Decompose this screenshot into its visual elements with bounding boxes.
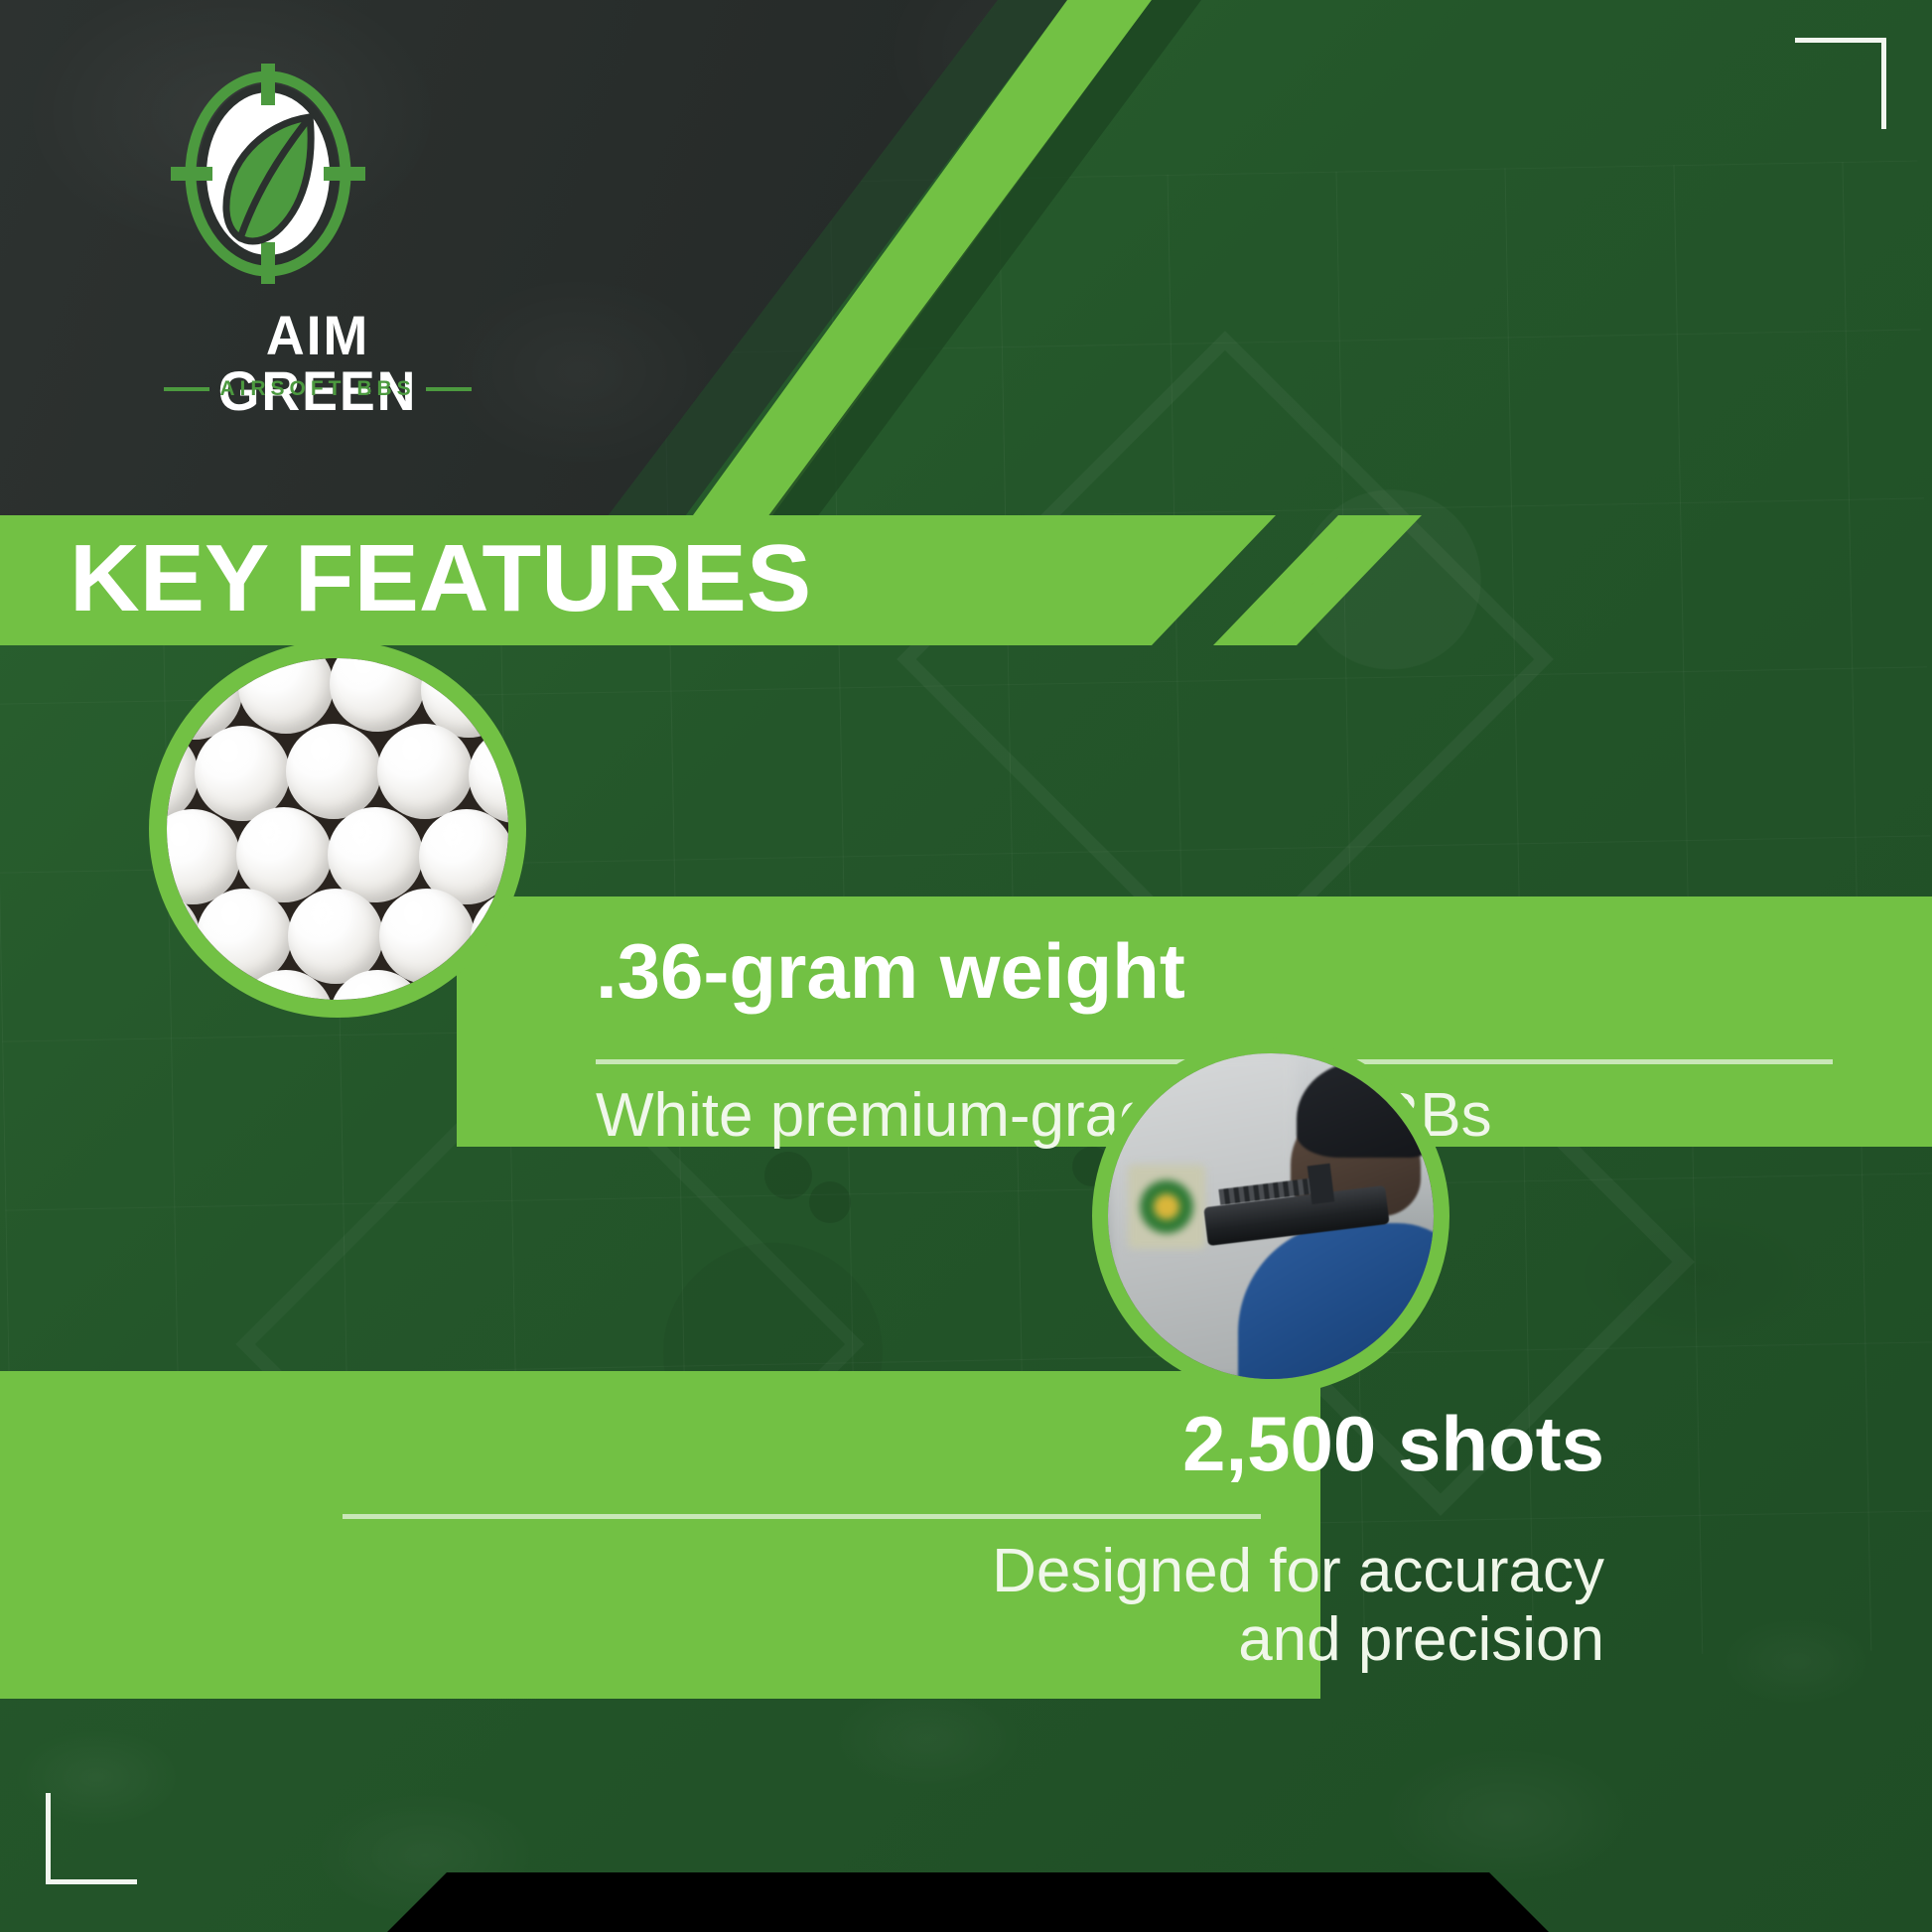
feature-2-subtitle-line-1: Designed for accuracy — [992, 1537, 1604, 1605]
brand-tagline-row: AIRSOFT BBS — [154, 377, 482, 401]
page-title: KEY FEATURES — [69, 527, 811, 630]
background-splat-dot — [764, 1152, 812, 1199]
feature-1-title: .36-gram weight — [596, 932, 1185, 1010]
leaf-crosshair-logo-icon — [169, 60, 367, 288]
brand-tagline: AIRSOFT BBS — [219, 377, 415, 401]
tagline-rule-left — [164, 387, 209, 391]
bbs-image-content — [167, 658, 508, 1000]
background-splat-dot — [809, 1181, 851, 1223]
feature-2-subtitle-line-2: and precision — [992, 1605, 1604, 1674]
corner-bracket-bottom-left — [46, 1793, 137, 1884]
brand-name: AIM GREEN — [161, 308, 476, 419]
airsoft-shooter-photo — [1092, 1037, 1449, 1395]
tagline-rule-right — [426, 387, 472, 391]
brand-logo: AIM GREEN AIRSOFT BBS — [154, 60, 472, 407]
shooter-image-content — [1108, 1053, 1434, 1379]
corner-bracket-top-right — [1795, 38, 1886, 129]
feature-2-subtitle: Designed for accuracy and precision — [992, 1537, 1604, 1675]
white-bbs-photo — [149, 640, 526, 1018]
feature-2-divider — [343, 1514, 1261, 1519]
feature-2-title: 2,500 shots — [1182, 1405, 1604, 1482]
poster-canvas: AIM GREEN AIRSOFT BBS KEY FEATURES .36-g… — [0, 0, 1932, 1932]
